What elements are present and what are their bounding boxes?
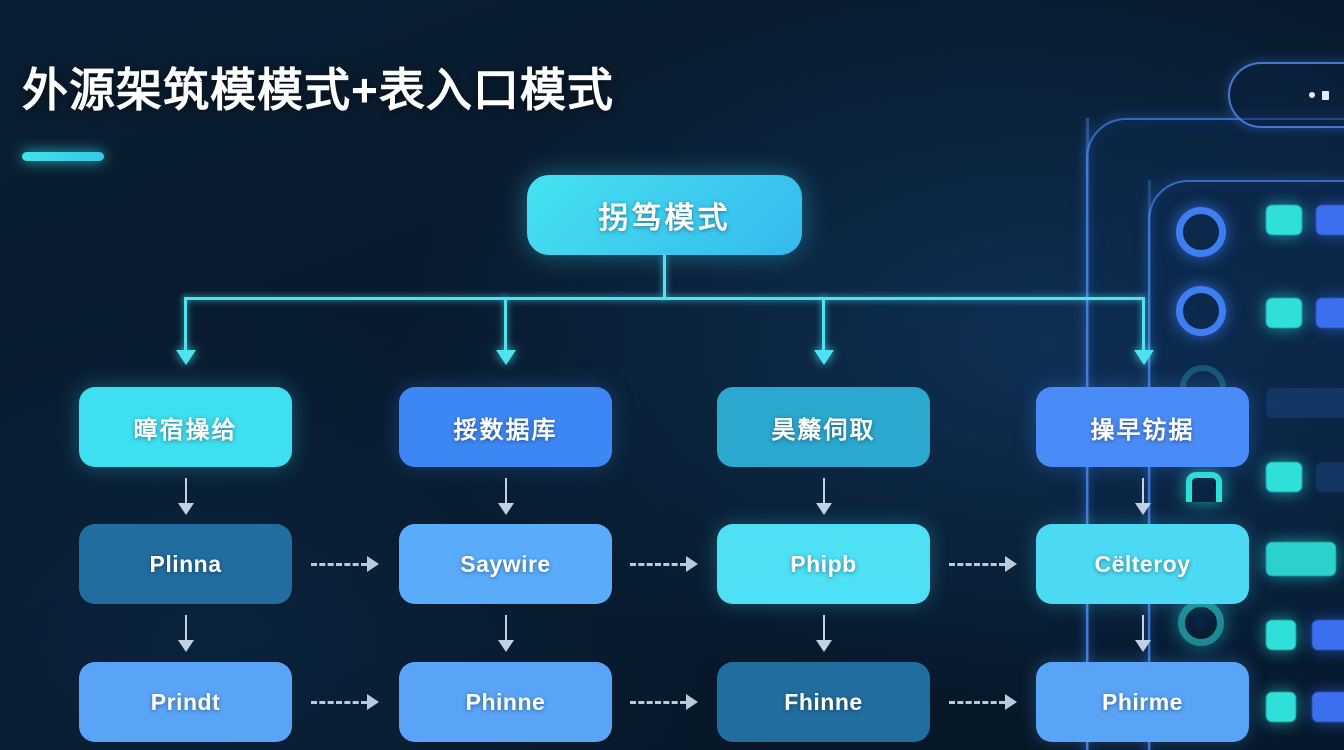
pill-square-icon (1322, 91, 1329, 100)
bar-dim-1 (1266, 388, 1344, 418)
status-pill (1228, 62, 1344, 128)
flow-mid-2 (630, 563, 686, 566)
node-col2-mid-label: Saywire (460, 551, 550, 578)
node-col4-top[interactable]: 操早钫据 (1036, 387, 1249, 467)
branch-line-2 (504, 297, 507, 351)
node-col1-bottom[interactable]: Prindt (79, 662, 292, 742)
branch-line-1 (184, 297, 187, 351)
flow-bottom-1-arrow (367, 694, 379, 710)
title-accent-bar (22, 152, 104, 161)
slide-canvas: 外源架筑模模式+表入口模式 拐笃模式 暲宿操给 Plinna Prindt 挼数… (0, 0, 1344, 750)
bar-cyan-4 (1266, 542, 1336, 576)
branch-arrow-1 (176, 350, 196, 365)
node-col1-top[interactable]: 暲宿操给 (79, 387, 292, 467)
branch-line-3 (822, 297, 825, 351)
node-col1-top-label: 暲宿操给 (134, 410, 238, 445)
page-title: 外源架筑模模式+表入口模式 (22, 54, 614, 120)
node-col2-bottom[interactable]: Phinne (399, 662, 612, 742)
node-col3-bottom-label: Fhinne (784, 689, 862, 716)
node-col4-mid-label: Cëlteroy (1094, 551, 1190, 578)
bar-blue-1 (1316, 205, 1344, 235)
flow-bottom-2-arrow (686, 694, 698, 710)
col2-link-1-arrow (498, 503, 514, 515)
col4-link-2 (1142, 615, 1144, 643)
branch-arrow-4 (1134, 350, 1154, 365)
col3-link-2-arrow (816, 640, 832, 652)
bar-cyan-1 (1266, 205, 1302, 235)
node-col2-bottom-label: Phinne (466, 689, 546, 716)
bar-cyan-2 (1266, 298, 1302, 328)
branch-arrow-3 (814, 350, 834, 365)
bar-cyan-6 (1266, 692, 1296, 722)
indicator-ring-4 (1178, 600, 1224, 646)
node-col1-mid[interactable]: Plinna (79, 524, 292, 604)
pill-dot-icon (1309, 92, 1315, 98)
node-col3-bottom[interactable]: Fhinne (717, 662, 930, 742)
node-col3-top[interactable]: 昊斄伺取 (717, 387, 930, 467)
node-col4-bottom[interactable]: Phirme (1036, 662, 1249, 742)
flow-mid-3 (949, 563, 1005, 566)
root-stem (663, 255, 666, 299)
bar-blue-4 (1312, 692, 1344, 722)
node-col4-top-label: 操早钫据 (1091, 410, 1195, 445)
bar-blue-3 (1312, 620, 1344, 650)
node-col4-bottom-label: Phirme (1102, 689, 1183, 716)
node-col1-mid-label: Plinna (149, 551, 221, 578)
flow-bottom-2 (630, 701, 686, 704)
col3-link-1-arrow (816, 503, 832, 515)
flow-bottom-3-arrow (1005, 694, 1017, 710)
flow-mid-3-arrow (1005, 556, 1017, 572)
branch-arrow-2 (496, 350, 516, 365)
col1-link-2 (185, 615, 187, 643)
flow-mid-2-arrow (686, 556, 698, 572)
indicator-ring-2 (1176, 286, 1226, 336)
col3-link-2 (823, 615, 825, 643)
root-node-label: 拐笃模式 (599, 193, 731, 237)
node-col2-mid[interactable]: Saywire (399, 524, 612, 604)
node-col3-mid-label: Phipb (790, 551, 856, 578)
flow-mid-1 (311, 563, 367, 566)
col1-link-1-arrow (178, 503, 194, 515)
root-node[interactable]: 拐笃模式 (527, 175, 802, 255)
bar-cyan-3 (1266, 462, 1302, 492)
branch-line-4 (1142, 297, 1145, 351)
flow-mid-1-arrow (367, 556, 379, 572)
col1-link-1 (185, 478, 187, 506)
bar-blue-2 (1316, 298, 1344, 328)
bus-line (184, 297, 1144, 300)
col1-link-2-arrow (178, 640, 194, 652)
node-col2-top[interactable]: 挼数据库 (399, 387, 612, 467)
col2-link-1 (505, 478, 507, 506)
col3-link-1 (823, 478, 825, 506)
col2-link-2-arrow (498, 640, 514, 652)
col4-link-2-arrow (1135, 640, 1151, 652)
col2-link-2 (505, 615, 507, 643)
node-col2-top-label: 挼数据库 (454, 410, 558, 445)
bar-cyan-5 (1266, 620, 1296, 650)
node-col1-bottom-label: Prindt (151, 689, 220, 716)
arch-icon (1186, 472, 1222, 502)
node-col4-mid[interactable]: Cëlteroy (1036, 524, 1249, 604)
col4-link-1-arrow (1135, 503, 1151, 515)
node-col3-top-label: 昊斄伺取 (772, 410, 876, 445)
bar-dim-2 (1316, 462, 1344, 492)
flow-bottom-3 (949, 701, 1005, 704)
indicator-ring-1 (1176, 207, 1226, 257)
node-col3-mid[interactable]: Phipb (717, 524, 930, 604)
col4-link-1 (1142, 478, 1144, 506)
flow-bottom-1 (311, 701, 367, 704)
